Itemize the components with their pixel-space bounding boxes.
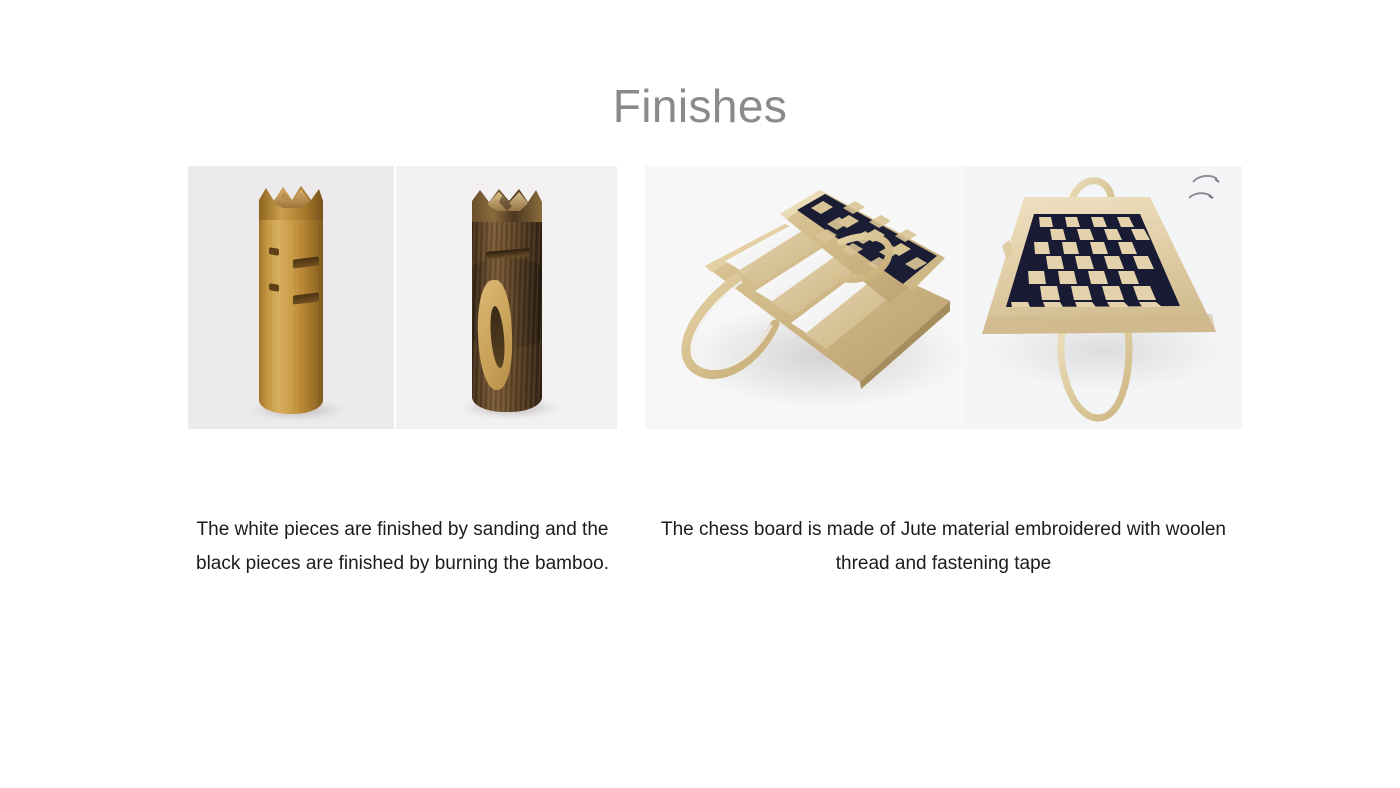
caption-jute-board: The chess board is made of Jute material…	[645, 513, 1242, 581]
piece-slot	[269, 283, 279, 292]
piece-body	[259, 204, 323, 414]
finishes-slide: Finishes	[0, 0, 1400, 788]
wire-clip-icon	[1185, 170, 1237, 210]
piece-slot	[269, 247, 279, 256]
piece-crown-top	[259, 186, 323, 222]
bamboo-piece-dark-graphic	[472, 188, 542, 412]
piece-crown-top	[472, 188, 542, 224]
page-title: Finishes	[0, 81, 1400, 132]
image-bamboo-piece-sanded[interactable]	[188, 166, 394, 429]
image-jute-board-flat[interactable]	[964, 166, 1242, 429]
image-group-jute-board	[645, 166, 1242, 429]
image-jute-board-folded[interactable]	[645, 166, 964, 429]
image-bamboo-piece-burned[interactable]	[396, 166, 617, 429]
image-gallery	[0, 166, 1400, 431]
folded-board-graphic	[645, 166, 964, 429]
captions-row: The white pieces are finished by sanding…	[0, 494, 1400, 614]
image-group-bamboo-pieces	[188, 166, 617, 429]
bamboo-piece-light-graphic	[259, 186, 323, 414]
caption-bamboo-finishes: The white pieces are finished by sanding…	[188, 513, 617, 581]
